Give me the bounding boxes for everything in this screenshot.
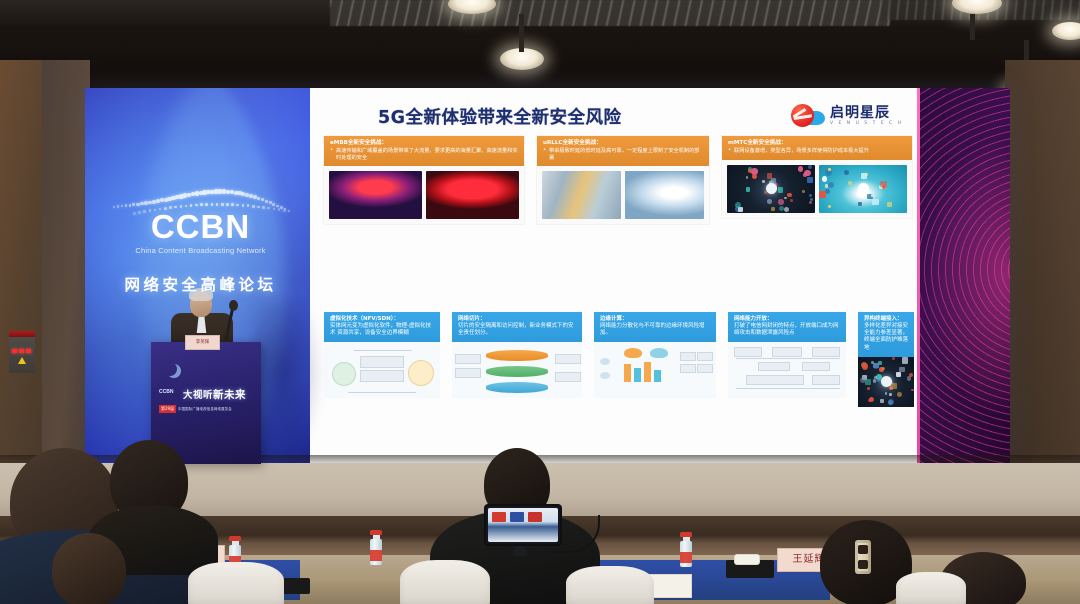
slide-title: 5G全新体验带来全新安全风险: [378, 104, 622, 129]
presentation-slide: 5G全新体验带来全新安全风险 启明星辰 V E N U S T E C H eM…: [310, 88, 920, 466]
capability-exposure-flowchart: [728, 342, 846, 398]
card-images: [722, 160, 912, 218]
slide-card-network-slicing: 网络切片： 切片的安全隔离和访问控制，新业务模式下的安全责任划分。: [452, 312, 582, 398]
audience-chair: [896, 572, 966, 604]
venustech-wordmark: 启明星辰 V E N U S T E C H: [830, 106, 903, 127]
card-title: mMTC全新安全挑战：: [728, 140, 907, 147]
podium-slogan: 大视听新未来: [183, 387, 246, 402]
slice-layer-mmtc: [486, 382, 548, 393]
phone-thumbnail: [528, 512, 542, 522]
bottle-body: [680, 541, 692, 567]
venustech-tagline: V E N U S T E C H: [830, 122, 903, 127]
podium-slogan-small: 大视听: [183, 390, 213, 401]
audience-chair: [400, 560, 490, 604]
ccbn-wordmark: CCBN: [113, 210, 288, 243]
venustech-logo: 启明星辰 V E N U S T E C H: [791, 104, 903, 128]
cloud-icon: [624, 348, 642, 358]
phone-thumbnail: [492, 512, 506, 522]
forum-title: 网络安全高峰论坛: [113, 273, 288, 295]
card-body: 实体网元变为虚拟化软件，物理-虚拟化技术 资源共享，设备安全边界模糊: [330, 323, 435, 337]
slide-card-urllc: uRLLC全新安全挑战： 带来极致时延的低时延及高可靠，一定程度上限制了安全机制…: [537, 136, 709, 224]
phone-thumbnail: [510, 512, 524, 522]
card-body: 打破了电信网封闭的特点，开放端口成为网络攻击和数据泄露风险点: [734, 323, 841, 337]
card-title: 异构终端接入：: [864, 316, 903, 322]
card-images: [537, 166, 709, 224]
podium-nameplate: 李英辉: [185, 335, 220, 350]
hair-clip: [855, 540, 871, 574]
water-bottle: [680, 532, 692, 567]
ceiling-truss: [330, 0, 890, 26]
slide-card-mmtc: mMTC全新安全挑战： 联网设备激增，类型各异，场景多样使得防护成本极大提升: [722, 136, 912, 218]
red-stadium-night-photo: [426, 171, 519, 219]
vr-headset-photo: [329, 171, 422, 219]
card-bullet: 联网设备激增，类型各异，场景多样使得防护成本极大提升: [728, 148, 907, 155]
phone-screen: [488, 508, 558, 542]
bottle-label: [680, 552, 692, 563]
slice-layer-urllc: [486, 366, 548, 377]
speaker-shadow: [252, 300, 322, 460]
card-images: [324, 166, 524, 224]
spotlight-stem: [970, 14, 975, 40]
water-bottle: [370, 530, 382, 565]
audience-chair: [566, 566, 654, 604]
card-header: 异构终端接入： 多样化差异对接安全能力参差显著，终端全面防护难落地: [858, 312, 914, 357]
conference-photo-scene: CCBN China Content Broadcasting Network …: [0, 0, 1080, 604]
warning-triangle-icon: [18, 357, 26, 364]
hall-wall-left-panel: [42, 60, 90, 480]
moon-graphic-icon: [163, 362, 177, 376]
bottle-body: [370, 539, 382, 565]
card-title: 网络能力开放：: [734, 316, 773, 322]
backdrop-magenta-panel: [920, 88, 1010, 466]
hall-wall-right: [1005, 60, 1080, 480]
podium-subline: 中国国际广播电视信息网络展览会: [178, 406, 232, 411]
slide-card-edge-computing: 边缘计算： 网络能力分散化与不可靠的边缘环境风险增加。: [594, 312, 716, 398]
card-header: uRLLC全新安全挑战： 带来极致时延的低时延及高可靠，一定程度上限制了安全机制…: [537, 136, 709, 166]
card-header: mMTC全新安全挑战： 联网设备激增，类型各异，场景多样使得防护成本极大提升: [722, 136, 912, 160]
card-title: 边缘计算：: [600, 316, 628, 322]
ccbn-logo: CCBN China Content Broadcasting Network …: [113, 180, 288, 295]
ceiling: [0, 0, 1080, 95]
bottle-label: [370, 550, 382, 561]
card-bullet: 高速传输和广域覆盖的场景带来了大流量、要求更高的海量汇聚、高速流量和实时处理的安…: [330, 148, 519, 162]
ccbn-subtitle: China Content Broadcasting Network: [113, 246, 288, 256]
card-header: 边缘计算： 网络能力分散化与不可靠的边缘环境风险增加。: [594, 312, 716, 342]
venustech-mark-icon: [791, 104, 825, 128]
heterogeneous-terminals-dark: [858, 357, 914, 407]
spotlight-stem: [519, 14, 524, 52]
card-title: 虚拟化技术（NFV/SDN）：: [330, 316, 399, 322]
highway-traffic-photo: [542, 171, 621, 219]
ccbn-dot-arc-icon: [113, 180, 288, 214]
slide-card-capability-exposure: 网络能力开放： 打破了电信网封闭的特点，开放端口成为网络攻击和数据泄露风险点: [728, 312, 846, 398]
high-speed-train-photo: [625, 171, 704, 219]
edge-computing-diagram: [594, 342, 716, 398]
card-header: 虚拟化技术（NFV/SDN）： 实体网元变为虚拟化软件，物理-虚拟化技术 资源共…: [324, 312, 440, 342]
fire-alarm-panel: [9, 331, 35, 373]
alarm-indicator-lights: [12, 349, 31, 353]
podium-edition-badge: 第29届: [159, 405, 176, 413]
card-header: 网络能力开放： 打破了电信网封闭的特点，开放端口成为网络攻击和数据泄露风险点: [728, 312, 846, 342]
card-title: 网络切片：: [458, 316, 486, 322]
audience-head-child: [52, 533, 126, 604]
slide-card-embb: eMBB全新安全挑战： 高速传输和广域覆盖的场景带来了大流量、要求更高的海量汇聚…: [324, 136, 524, 224]
slide-card-heterogeneous-terminals: 异构终端接入： 多样化差异对接安全能力参差显著，终端全面防护难落地: [858, 312, 914, 407]
slide-card-nfv-sdn: 虚拟化技术（NFV/SDN）： 实体网元变为虚拟化软件，物理-虚拟化技术 资源共…: [324, 312, 440, 398]
microphone-head: [229, 300, 238, 311]
venustech-name-cn: 启明星辰: [830, 105, 890, 121]
notebook-paper: [734, 554, 760, 565]
nfv-sdn-diagram: [324, 342, 440, 398]
iot-smart-home-teal: [819, 165, 907, 213]
spotlight: [1052, 22, 1080, 40]
slice-layer-embb: [486, 350, 548, 361]
card-body: 多样化差异对接安全能力参差显著，终端全面防护难落地: [864, 323, 909, 352]
card-title: eMBB全新安全挑战：: [330, 140, 519, 147]
card-body: 切片的安全隔离和访问控制，新业务模式下的安全责任划分。: [458, 323, 577, 337]
card-header: eMBB全新安全挑战： 高速传输和广域覆盖的场景带来了大流量、要求更高的海量汇聚…: [324, 136, 524, 166]
iot-icon-cloud-dark: [727, 165, 815, 213]
network-slice-stack: [452, 342, 582, 398]
cloud-icon: [650, 348, 668, 358]
card-title: uRLLC全新安全挑战：: [543, 140, 704, 147]
card-header: 网络切片： 切片的安全隔离和访问控制，新业务模式下的安全责任划分。: [452, 312, 582, 342]
card-body: 网络能力分散化与不可靠的边缘环境风险增加。: [600, 323, 711, 337]
audience-chair: [188, 562, 284, 604]
podium-ccbn-logo: CCBN: [159, 389, 173, 395]
podium-slogan-large: 新未来: [213, 389, 246, 401]
card-bullet: 带来极致时延的低时延及高可靠，一定程度上限制了安全机制的部署: [543, 148, 704, 162]
